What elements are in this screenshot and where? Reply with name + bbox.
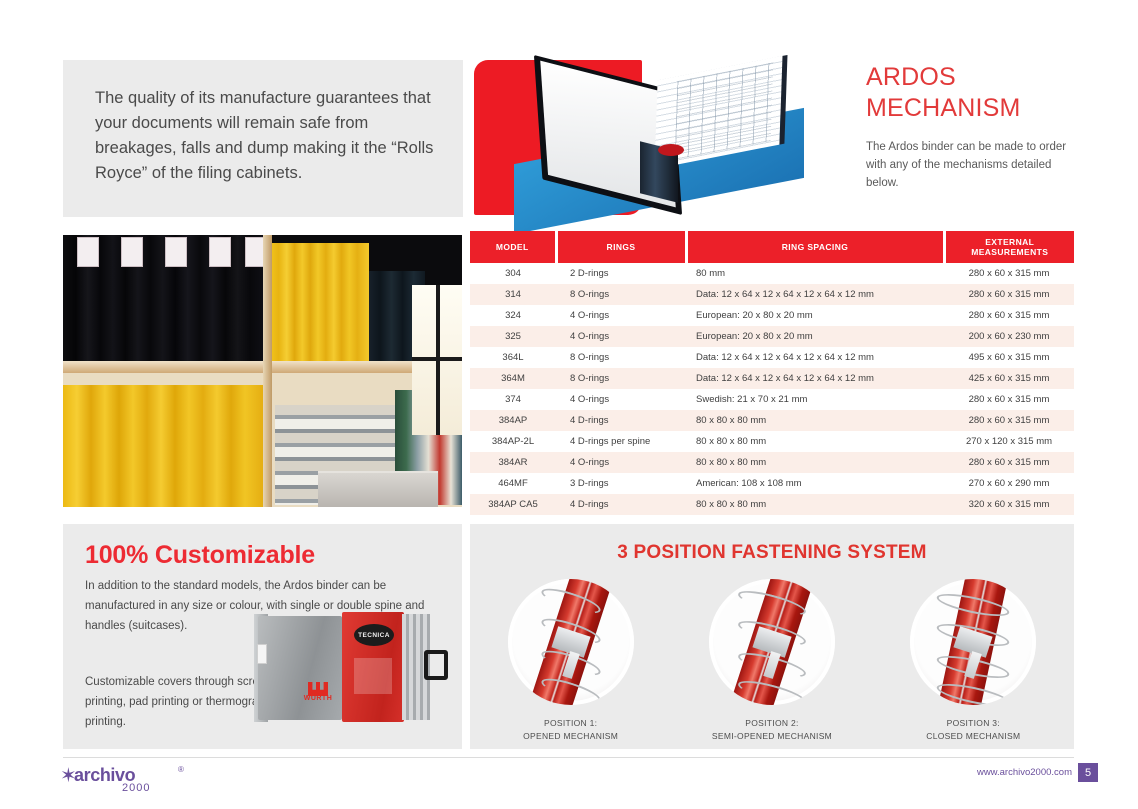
cell-model: 364M	[470, 368, 556, 389]
table-row: 364M 8 O-rings Data: 12 x 64 x 12 x 64 x…	[470, 368, 1074, 389]
fastening-item-1: POSITION 1: OPENED MECHANISM	[486, 579, 656, 743]
binder-label	[77, 237, 99, 267]
cell-external: 320 x 60 x 315 mm	[944, 494, 1074, 515]
cell-external: 280 x 60 x 315 mm	[944, 389, 1074, 410]
table-header-external: EXTERNAL MEASUREMENTS	[944, 231, 1074, 263]
cell-model: 314	[470, 284, 556, 305]
cell-external: 270 x 60 x 290 mm	[944, 473, 1074, 494]
cell-spacing: 80 x 80 x 80 mm	[686, 452, 944, 473]
shelf-divider	[263, 235, 272, 507]
cell-external: 280 x 60 x 315 mm	[944, 410, 1074, 431]
table-row: 364L 8 O-rings Data: 12 x 64 x 12 x 64 x…	[470, 347, 1074, 368]
wurth-logo: WURTH	[296, 684, 340, 702]
tecnica-logo: TECNICA	[354, 624, 394, 646]
binder-label	[165, 237, 187, 267]
drawer-unit	[318, 471, 438, 507]
position-label-line2: CLOSED MECHANISM	[888, 730, 1058, 743]
cell-external: 280 x 60 x 315 mm	[944, 305, 1074, 326]
table-body: 304 2 D-rings 80 mm 280 x 60 x 315 mm 31…	[470, 263, 1074, 515]
position-label-line2: SEMI-OPENED MECHANISM	[687, 730, 857, 743]
suitcase-handle	[424, 650, 448, 680]
cell-spacing: Swedish: 21 x 70 x 21 mm	[686, 389, 944, 410]
cell-rings: 4 O-rings	[556, 389, 686, 410]
cell-spacing: Data: 12 x 64 x 12 x 64 x 12 x 64 x 12 m…	[686, 368, 944, 389]
cell-model: 384AP-2L	[470, 431, 556, 452]
binder-label-row	[63, 235, 271, 275]
ardos-section: ARDOS MECHANISM The Ardos binder can be …	[866, 62, 1078, 192]
office-shelving-photo	[63, 235, 462, 507]
cell-spacing: European: 20 x 80 x 20 mm	[686, 305, 944, 326]
table-header-model: MODEL	[470, 231, 556, 263]
fastening-item-2: POSITION 2: SEMI-OPENED MECHANISM	[687, 579, 857, 743]
cell-rings: 2 D-rings	[556, 263, 686, 284]
table-row: 324 4 O-rings European: 20 x 80 x 20 mm …	[470, 305, 1074, 326]
cell-model: 325	[470, 326, 556, 347]
cell-model: 384AP	[470, 410, 556, 431]
window	[412, 285, 462, 435]
cell-model: 384AR	[470, 452, 556, 473]
cell-rings: 4 D-rings	[556, 410, 686, 431]
table-row: 384AP-2L 4 D-rings per spine 80 x 80 x 8…	[470, 431, 1074, 452]
cell-model: 384AP CA5	[470, 494, 556, 515]
fastening-title: 3 POSITION FASTENING SYSTEM	[470, 542, 1074, 564]
cell-external: 280 x 60 x 315 mm	[944, 284, 1074, 305]
red-ring-mechanism	[658, 144, 684, 156]
binder-hero-image	[470, 58, 850, 224]
table-row: 304 2 D-rings 80 mm 280 x 60 x 315 mm	[470, 263, 1074, 284]
grey-binder	[258, 616, 342, 720]
cell-rings: 8 O-rings	[556, 347, 686, 368]
binder-label	[209, 237, 231, 267]
table-row: 384AR 4 O-rings 80 x 80 x 80 mm 280 x 60…	[470, 452, 1074, 473]
website-url[interactable]: www.archivo2000.com	[977, 767, 1072, 778]
cell-spacing: Data: 12 x 64 x 12 x 64 x 12 x 64 x 12 m…	[686, 284, 944, 305]
cell-rings: 4 O-rings	[556, 305, 686, 326]
table-header-row: MODEL RINGS RING SPACING EXTERNAL MEASUR…	[470, 231, 1074, 263]
footer-divider	[63, 757, 1074, 758]
cell-spacing: Data: 12 x 64 x 12 x 64 x 12 x 64 x 12 m…	[686, 347, 944, 368]
table-row: 384AP CA5 4 D-rings 80 x 80 x 80 mm 320 …	[470, 494, 1074, 515]
cell-rings: 4 D-rings	[556, 494, 686, 515]
position-label-line1: POSITION 2:	[687, 717, 857, 730]
fastening-label-2: POSITION 2: SEMI-OPENED MECHANISM	[687, 717, 857, 743]
yellow-binders-bottom	[63, 385, 263, 507]
fastening-items: POSITION 1: OPENED MECHANISM POSITION 2:…	[470, 579, 1074, 743]
logo-year-text: 2000	[122, 782, 150, 794]
fastening-label-3: POSITION 3: CLOSED MECHANISM	[888, 717, 1058, 743]
ardos-title: ARDOS MECHANISM	[866, 62, 1078, 124]
table-head: MODEL RINGS RING SPACING EXTERNAL MEASUR…	[470, 231, 1074, 263]
cell-rings: 4 D-rings per spine	[556, 431, 686, 452]
yellow-binders-top	[271, 243, 369, 361]
archivo-2000-logo: ✶ archivo ® 2000	[60, 762, 210, 796]
table-row: 314 8 O-rings Data: 12 x 64 x 12 x 64 x …	[470, 284, 1074, 305]
customizable-title: 100% Customizable	[85, 541, 315, 570]
binder-label	[121, 237, 143, 267]
cell-rings: 4 O-rings	[556, 452, 686, 473]
position-2-image	[709, 579, 835, 705]
cover-print-artwork	[354, 658, 392, 694]
cell-external: 280 x 60 x 315 mm	[944, 263, 1074, 284]
fastening-system-panel: 3 POSITION FASTENING SYSTEM POSITION 1: …	[470, 524, 1074, 749]
table-row: 464MF 3 D-rings American: 108 x 108 mm 2…	[470, 473, 1074, 494]
cell-model: 364L	[470, 347, 556, 368]
cell-model: 324	[470, 305, 556, 326]
cell-rings: 3 D-rings	[556, 473, 686, 494]
ardos-title-line2: MECHANISM	[866, 93, 1078, 124]
grey-binder-label	[257, 644, 267, 664]
cell-spacing: European: 20 x 80 x 20 mm	[686, 326, 944, 347]
customizable-binders-photo: WURTH TECNICA	[250, 606, 450, 724]
table-row: 374 4 O-rings Swedish: 21 x 70 x 21 mm 2…	[470, 389, 1074, 410]
ardos-title-line1: ARDOS	[866, 62, 1078, 93]
quote-text: The quality of its manufacture guarantee…	[95, 86, 435, 186]
cell-rings: 4 O-rings	[556, 326, 686, 347]
position-label-line2: OPENED MECHANISM	[486, 730, 656, 743]
cell-rings: 8 O-rings	[556, 284, 686, 305]
cell-external: 495 x 60 x 315 mm	[944, 347, 1074, 368]
cell-spacing: 80 x 80 x 80 mm	[686, 410, 944, 431]
cell-spacing: 80 mm	[686, 263, 944, 284]
page-number-badge: 5	[1078, 763, 1098, 782]
cell-spacing: American: 108 x 108 mm	[686, 473, 944, 494]
cell-external: 270 x 120 x 315 mm	[944, 431, 1074, 452]
cell-rings: 8 O-rings	[556, 368, 686, 389]
table-header-rings: RINGS	[556, 231, 686, 263]
cell-model: 304	[470, 263, 556, 284]
position-1-image	[508, 579, 634, 705]
fastening-label-1: POSITION 1: OPENED MECHANISM	[486, 717, 656, 743]
cell-external: 200 x 60 x 230 mm	[944, 326, 1074, 347]
position-label-line1: POSITION 1:	[486, 717, 656, 730]
brochure-page: The quality of its manufacture guarantee…	[0, 0, 1138, 809]
registered-trademark-icon: ®	[178, 765, 184, 774]
table-row: 325 4 O-rings European: 20 x 80 x 20 mm …	[470, 326, 1074, 347]
cell-external: 425 x 60 x 315 mm	[944, 368, 1074, 389]
specification-table: MODEL RINGS RING SPACING EXTERNAL MEASUR…	[470, 231, 1074, 515]
fastening-item-3: POSITION 3: CLOSED MECHANISM	[888, 579, 1058, 743]
cell-external: 280 x 60 x 315 mm	[944, 452, 1074, 473]
cell-model: 464MF	[470, 473, 556, 494]
cell-spacing: 80 x 80 x 80 mm	[686, 494, 944, 515]
position-label-line1: POSITION 3:	[888, 717, 1058, 730]
ardos-description: The Ardos binder can be made to order wi…	[866, 138, 1078, 192]
cell-model: 374	[470, 389, 556, 410]
table-row: 384AP 4 D-rings 80 x 80 x 80 mm 280 x 60…	[470, 410, 1074, 431]
cell-spacing: 80 x 80 x 80 mm	[686, 431, 944, 452]
table-header-spacing: RING SPACING	[686, 231, 944, 263]
quote-panel: The quality of its manufacture guarantee…	[63, 60, 463, 217]
position-3-image	[910, 579, 1036, 705]
specification-table-wrapper: MODEL RINGS RING SPACING EXTERNAL MEASUR…	[470, 231, 1074, 532]
